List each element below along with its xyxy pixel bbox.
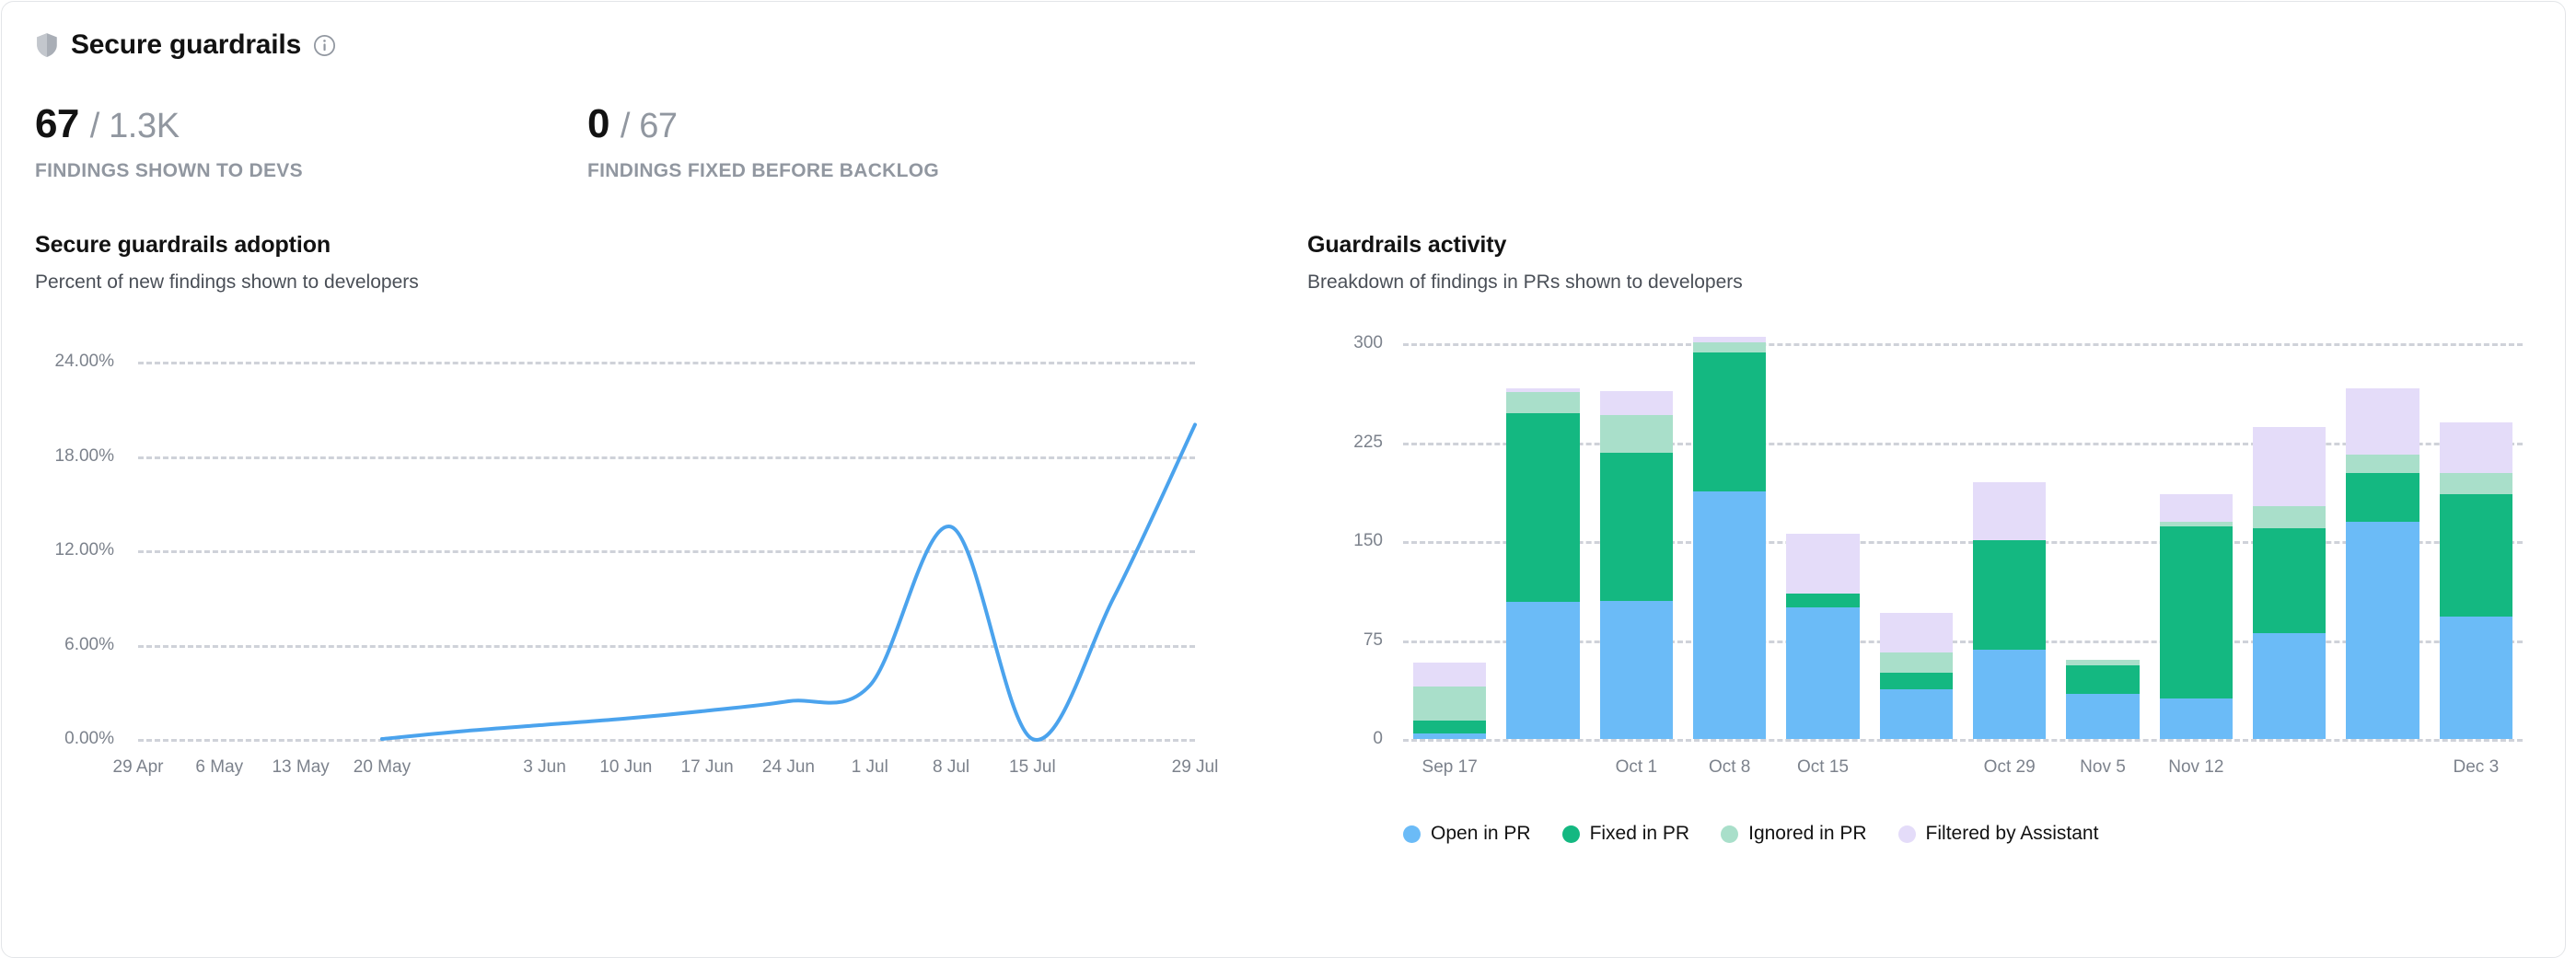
bar-segment[interactable] (2346, 455, 2419, 473)
bar-segment[interactable] (2346, 522, 2419, 739)
bar-stack[interactable] (2440, 422, 2512, 739)
bar-segment[interactable] (1600, 391, 1673, 415)
bar-segment[interactable] (1973, 540, 2046, 650)
x-axis-line (1403, 739, 2523, 742)
y-axis-tick-label: 300 (1353, 333, 1383, 353)
stat-label: FINDINGS FIXED BEFORE BACKLOG (587, 160, 1140, 182)
legend-item[interactable]: Ignored in PR (1721, 823, 1866, 845)
bar-segment[interactable] (1600, 601, 1673, 739)
bar-segment[interactable] (2440, 422, 2512, 472)
stat-value-row: 67 / 1.3K (35, 101, 587, 147)
bar-segment[interactable] (1506, 413, 1579, 602)
bar-segment[interactable] (1786, 594, 1859, 606)
bar-segment[interactable] (2253, 427, 2326, 506)
bar-segment[interactable] (2160, 698, 2233, 739)
info-circle-icon[interactable] (313, 34, 336, 57)
bar-stack[interactable] (1973, 482, 2046, 739)
bar-stack[interactable] (1413, 663, 1486, 739)
panel-subtitle: Breakdown of findings in PRs shown to de… (1307, 271, 2532, 294)
legend-label: Fixed in PR (1590, 823, 1690, 845)
legend-label: Ignored in PR (1748, 823, 1866, 845)
stat-findings-fixed-before-backlog: 0 / 67 FINDINGS FIXED BEFORE BACKLOG (587, 101, 1140, 182)
adoption-line-series (35, 317, 1269, 805)
legend-item[interactable]: Open in PR (1403, 823, 1531, 845)
stat-findings-shown-to-devs: 67 / 1.3K FINDINGS SHOWN TO DEVS (35, 101, 587, 182)
bar-segment[interactable] (2253, 633, 2326, 739)
bar-segment[interactable] (2440, 473, 2512, 494)
bar-segment[interactable] (1506, 392, 1579, 413)
bar-segment[interactable] (1413, 663, 1486, 687)
card-header: Secure guardrails (35, 29, 336, 61)
bar-segment[interactable] (1880, 613, 1953, 652)
panel-guardrails-activity: Guardrails activity Breakdown of finding… (1307, 232, 2532, 805)
panel-title: Secure guardrails adoption (35, 232, 1269, 259)
guardrails-activity-bar-chart[interactable]: 300225150750Sep 17Oct 1Oct 8Oct 15Oct 29… (1307, 317, 2532, 805)
bar-segment[interactable] (2253, 528, 2326, 634)
legend-color-swatch (1721, 825, 1738, 843)
stat-primary-value: 0 (587, 101, 609, 147)
bar-segment[interactable] (2346, 473, 2419, 522)
bar-segment[interactable] (1786, 534, 1859, 594)
bar-segment[interactable] (2440, 494, 2512, 617)
bar-segment[interactable] (1413, 733, 1486, 739)
bar-segment[interactable] (2253, 506, 2326, 528)
bar-segment[interactable] (1693, 352, 1766, 491)
legend-item[interactable]: Fixed in PR (1562, 823, 1690, 845)
legend-label: Open in PR (1431, 823, 1531, 845)
bar-segment[interactable] (2066, 694, 2139, 739)
bar-stack[interactable] (1693, 337, 1766, 739)
bar-segment[interactable] (1880, 689, 1953, 739)
bar-stack[interactable] (1600, 391, 1673, 739)
adoption-line-chart[interactable]: 24.00%18.00%12.00%6.00%0.00%29 Apr6 May1… (35, 317, 1269, 805)
bar-stack[interactable] (2160, 494, 2233, 739)
bar-segment[interactable] (2440, 617, 2512, 739)
chart-legend: Open in PRFixed in PRIgnored in PRFilter… (1403, 823, 2098, 845)
legend-color-swatch (1898, 825, 1916, 843)
bar-segment[interactable] (1693, 342, 1766, 352)
panel-secure-guardrails-adoption: Secure guardrails adoption Percent of ne… (35, 232, 1269, 805)
bar-segment[interactable] (1413, 721, 1486, 733)
stat-value-row: 0 / 67 (587, 101, 1140, 147)
bar-stack[interactable] (1880, 613, 1953, 739)
bar-stack[interactable] (2253, 427, 2326, 739)
panel-title: Guardrails activity (1307, 232, 2532, 259)
x-axis-tick-label: Oct 29 (1984, 757, 2036, 778)
stat-secondary-value: / 67 (621, 107, 678, 146)
bar-segment[interactable] (2160, 526, 2233, 698)
legend-color-swatch (1403, 825, 1421, 843)
gridline (1403, 343, 2523, 346)
bar-segment[interactable] (2346, 388, 2419, 455)
bar-segment[interactable] (1786, 607, 1859, 739)
x-axis-tick-label: Oct 8 (1709, 757, 1750, 778)
legend-item[interactable]: Filtered by Assistant (1898, 823, 2099, 845)
bar-stack[interactable] (1786, 534, 1859, 739)
x-axis-tick-label: Nov 12 (2168, 757, 2223, 778)
bar-stack[interactable] (2066, 660, 2139, 739)
page-title: Secure guardrails (71, 29, 301, 61)
bar-stack[interactable] (2346, 388, 2419, 739)
x-axis-tick-label: Oct 1 (1616, 757, 1657, 778)
panel-subtitle: Percent of new findings shown to develop… (35, 271, 1269, 294)
bar-segment[interactable] (2160, 494, 2233, 522)
x-axis-tick-label: Oct 15 (1797, 757, 1849, 778)
y-axis-tick-label: 75 (1363, 630, 1383, 651)
stat-secondary-value: / 1.3K (90, 107, 180, 146)
legend-color-swatch (1562, 825, 1580, 843)
bar-segment[interactable] (1880, 673, 1953, 688)
legend-label: Filtered by Assistant (1926, 823, 2099, 845)
bar-segment[interactable] (1973, 482, 2046, 540)
stat-label: FINDINGS SHOWN TO DEVS (35, 160, 587, 182)
stat-primary-value: 67 (35, 101, 79, 147)
bar-segment[interactable] (1973, 650, 2046, 739)
secure-guardrails-card: Secure guardrails 67 / 1.3K FINDINGS SHO… (1, 1, 2566, 958)
charts-row: Secure guardrails adoption Percent of ne… (2, 232, 2565, 913)
bar-segment[interactable] (1693, 491, 1766, 739)
bar-segment[interactable] (1413, 687, 1486, 721)
bar-segment[interactable] (2066, 665, 2139, 695)
shield-icon (35, 32, 59, 58)
bar-segment[interactable] (1506, 602, 1579, 739)
y-axis-tick-label: 0 (1373, 729, 1383, 749)
y-axis-tick-label: 150 (1353, 531, 1383, 551)
x-axis-tick-label: Nov 5 (2080, 757, 2126, 778)
y-axis-tick-label: 225 (1353, 433, 1383, 453)
bar-stack[interactable] (1506, 388, 1579, 739)
bar-segment[interactable] (1880, 652, 1953, 674)
bar-segment[interactable] (1600, 453, 1673, 600)
x-axis-tick-label: Sep 17 (1422, 757, 1478, 778)
bar-segment[interactable] (1600, 415, 1673, 454)
x-axis-tick-label: Dec 3 (2454, 757, 2500, 778)
stats-row: 67 / 1.3K FINDINGS SHOWN TO DEVS 0 / 67 … (35, 101, 1140, 182)
